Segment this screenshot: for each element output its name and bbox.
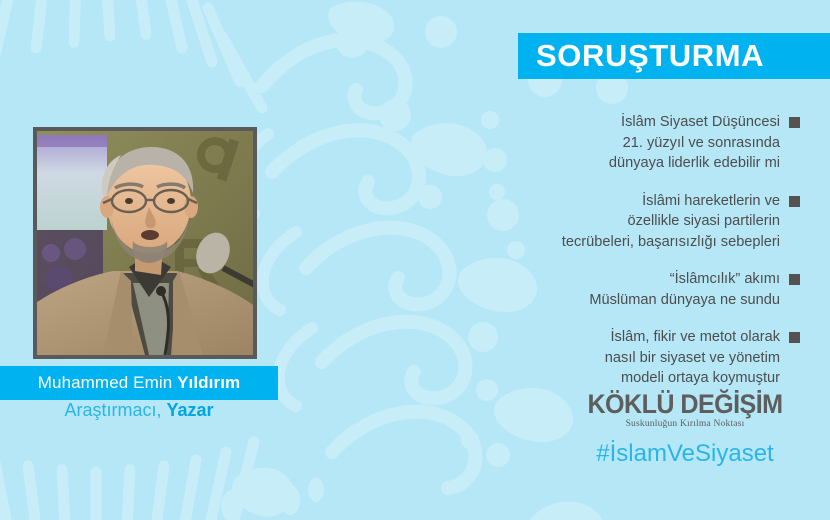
speaker-photo: [33, 127, 257, 359]
brand-logo: KÖKLÜ DEĞİŞİM Suskunluğun Kırılma Noktas…: [560, 390, 810, 429]
topic-item: İslâm Siyaset Düşüncesi 21. yüzyıl ve so…: [470, 112, 800, 174]
speaker-role: Araştırmacı, Yazar: [0, 400, 278, 421]
speaker-role-emphasis: Yazar: [166, 400, 213, 420]
brand-logo-text: KÖKLÜ DEĞİŞİM: [569, 390, 802, 418]
topic-text: İslâm, fikir ve metot olarak nasıl bir s…: [605, 327, 780, 389]
campaign-hashtag: #İslamVeSiyaset: [560, 440, 810, 468]
topic-text: İslâm Siyaset Düşüncesi 21. yüzyıl ve so…: [609, 112, 780, 174]
topic-item: İslâmi hareketlerin ve özellikle siyasi …: [470, 191, 800, 253]
speaker-name-last: Yıldırım: [177, 373, 240, 392]
square-bullet-icon: [789, 332, 800, 343]
topic-item: “İslâmcılık” akımı Müslüman dünyaya ne s…: [470, 269, 800, 310]
speaker-name: Muhammed Emin Yıldırım: [38, 373, 241, 393]
square-bullet-icon: [789, 196, 800, 207]
topic-item: İslâm, fikir ve metot olarak nasıl bir s…: [470, 327, 800, 389]
brand-logo-tagline: Suskunluğun Kırılma Noktası: [560, 419, 810, 429]
square-bullet-icon: [789, 274, 800, 285]
square-bullet-icon: [789, 117, 800, 128]
page-title: SORUŞTURMA: [536, 38, 764, 74]
speaker-name-first: Muhammed Emin: [38, 373, 177, 392]
topic-text: İslâmi hareketlerin ve özellikle siyasi …: [562, 191, 780, 253]
poster-canvas: Muhammed Emin Yıldırım Araştırmacı, Yaza…: [0, 0, 830, 520]
speaker-name-band: Muhammed Emin Yıldırım: [0, 366, 278, 400]
speaker-role-prefix: Araştırmacı,: [64, 400, 166, 420]
topic-text: “İslâmcılık” akımı Müslüman dünyaya ne s…: [589, 269, 780, 310]
speaker-portrait-image: [37, 131, 253, 355]
topic-list: İslâm Siyaset Düşüncesi 21. yüzyıl ve so…: [470, 112, 800, 406]
title-banner: SORUŞTURMA: [518, 33, 830, 79]
